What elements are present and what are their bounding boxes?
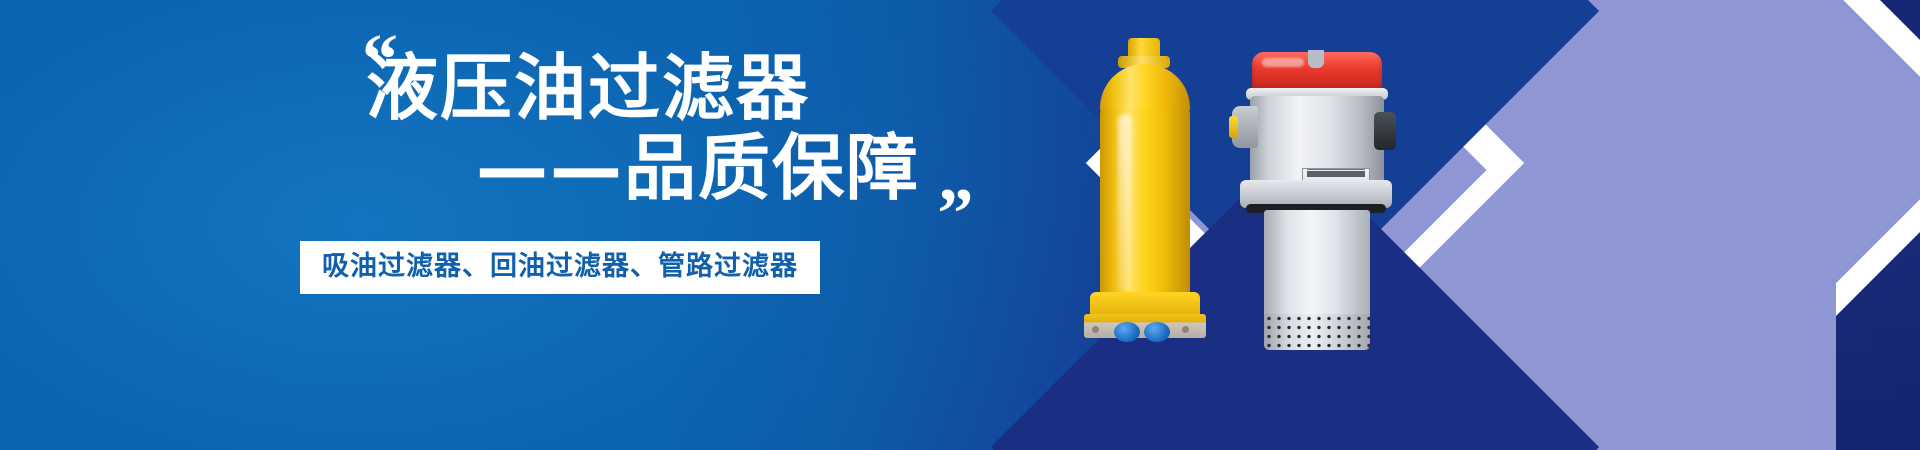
filter-port-right [1144, 322, 1170, 342]
quote-open-icon: “ [362, 38, 396, 81]
filter-bolt-right [1182, 326, 1189, 333]
headline-group: “ 液压油过滤器 ——品质保障 „ [300, 28, 920, 207]
filter-bolt-left [1092, 326, 1099, 333]
filter-tube [1264, 210, 1370, 322]
filter-housing-head [1250, 96, 1384, 192]
filter-side-inlet [1232, 106, 1258, 148]
product-image-return-line-filter [1232, 52, 1404, 350]
headline-line-1: 液压油过滤器 [366, 28, 920, 126]
nameplate-header-bar [1307, 171, 1365, 177]
nameplate-line [1307, 169, 1365, 170]
headline-line-2: ——品质保障 [344, 130, 920, 206]
subtitle-text: 吸油过滤器、回油过滤器、管路过滤器 [322, 251, 798, 282]
filter-port-left [1114, 322, 1140, 342]
filter-perforated-mesh [1264, 314, 1370, 350]
filter-body [1100, 108, 1190, 308]
promo-banner: “ 液压油过滤器 ——品质保障 „ 吸油过滤器、回油过滤器、管路过滤器 [0, 0, 1920, 450]
banner-copy: “ 液压油过滤器 ——品质保障 „ 吸油过滤器、回油过滤器、管路过滤器 [300, 28, 920, 294]
subtitle-badge: 吸油过滤器、回油过滤器、管路过滤器 [300, 241, 820, 295]
quote-close-icon: „ [938, 155, 972, 198]
filter-side-knob [1374, 112, 1396, 150]
product-image-suction-oil-filter [1078, 38, 1210, 338]
